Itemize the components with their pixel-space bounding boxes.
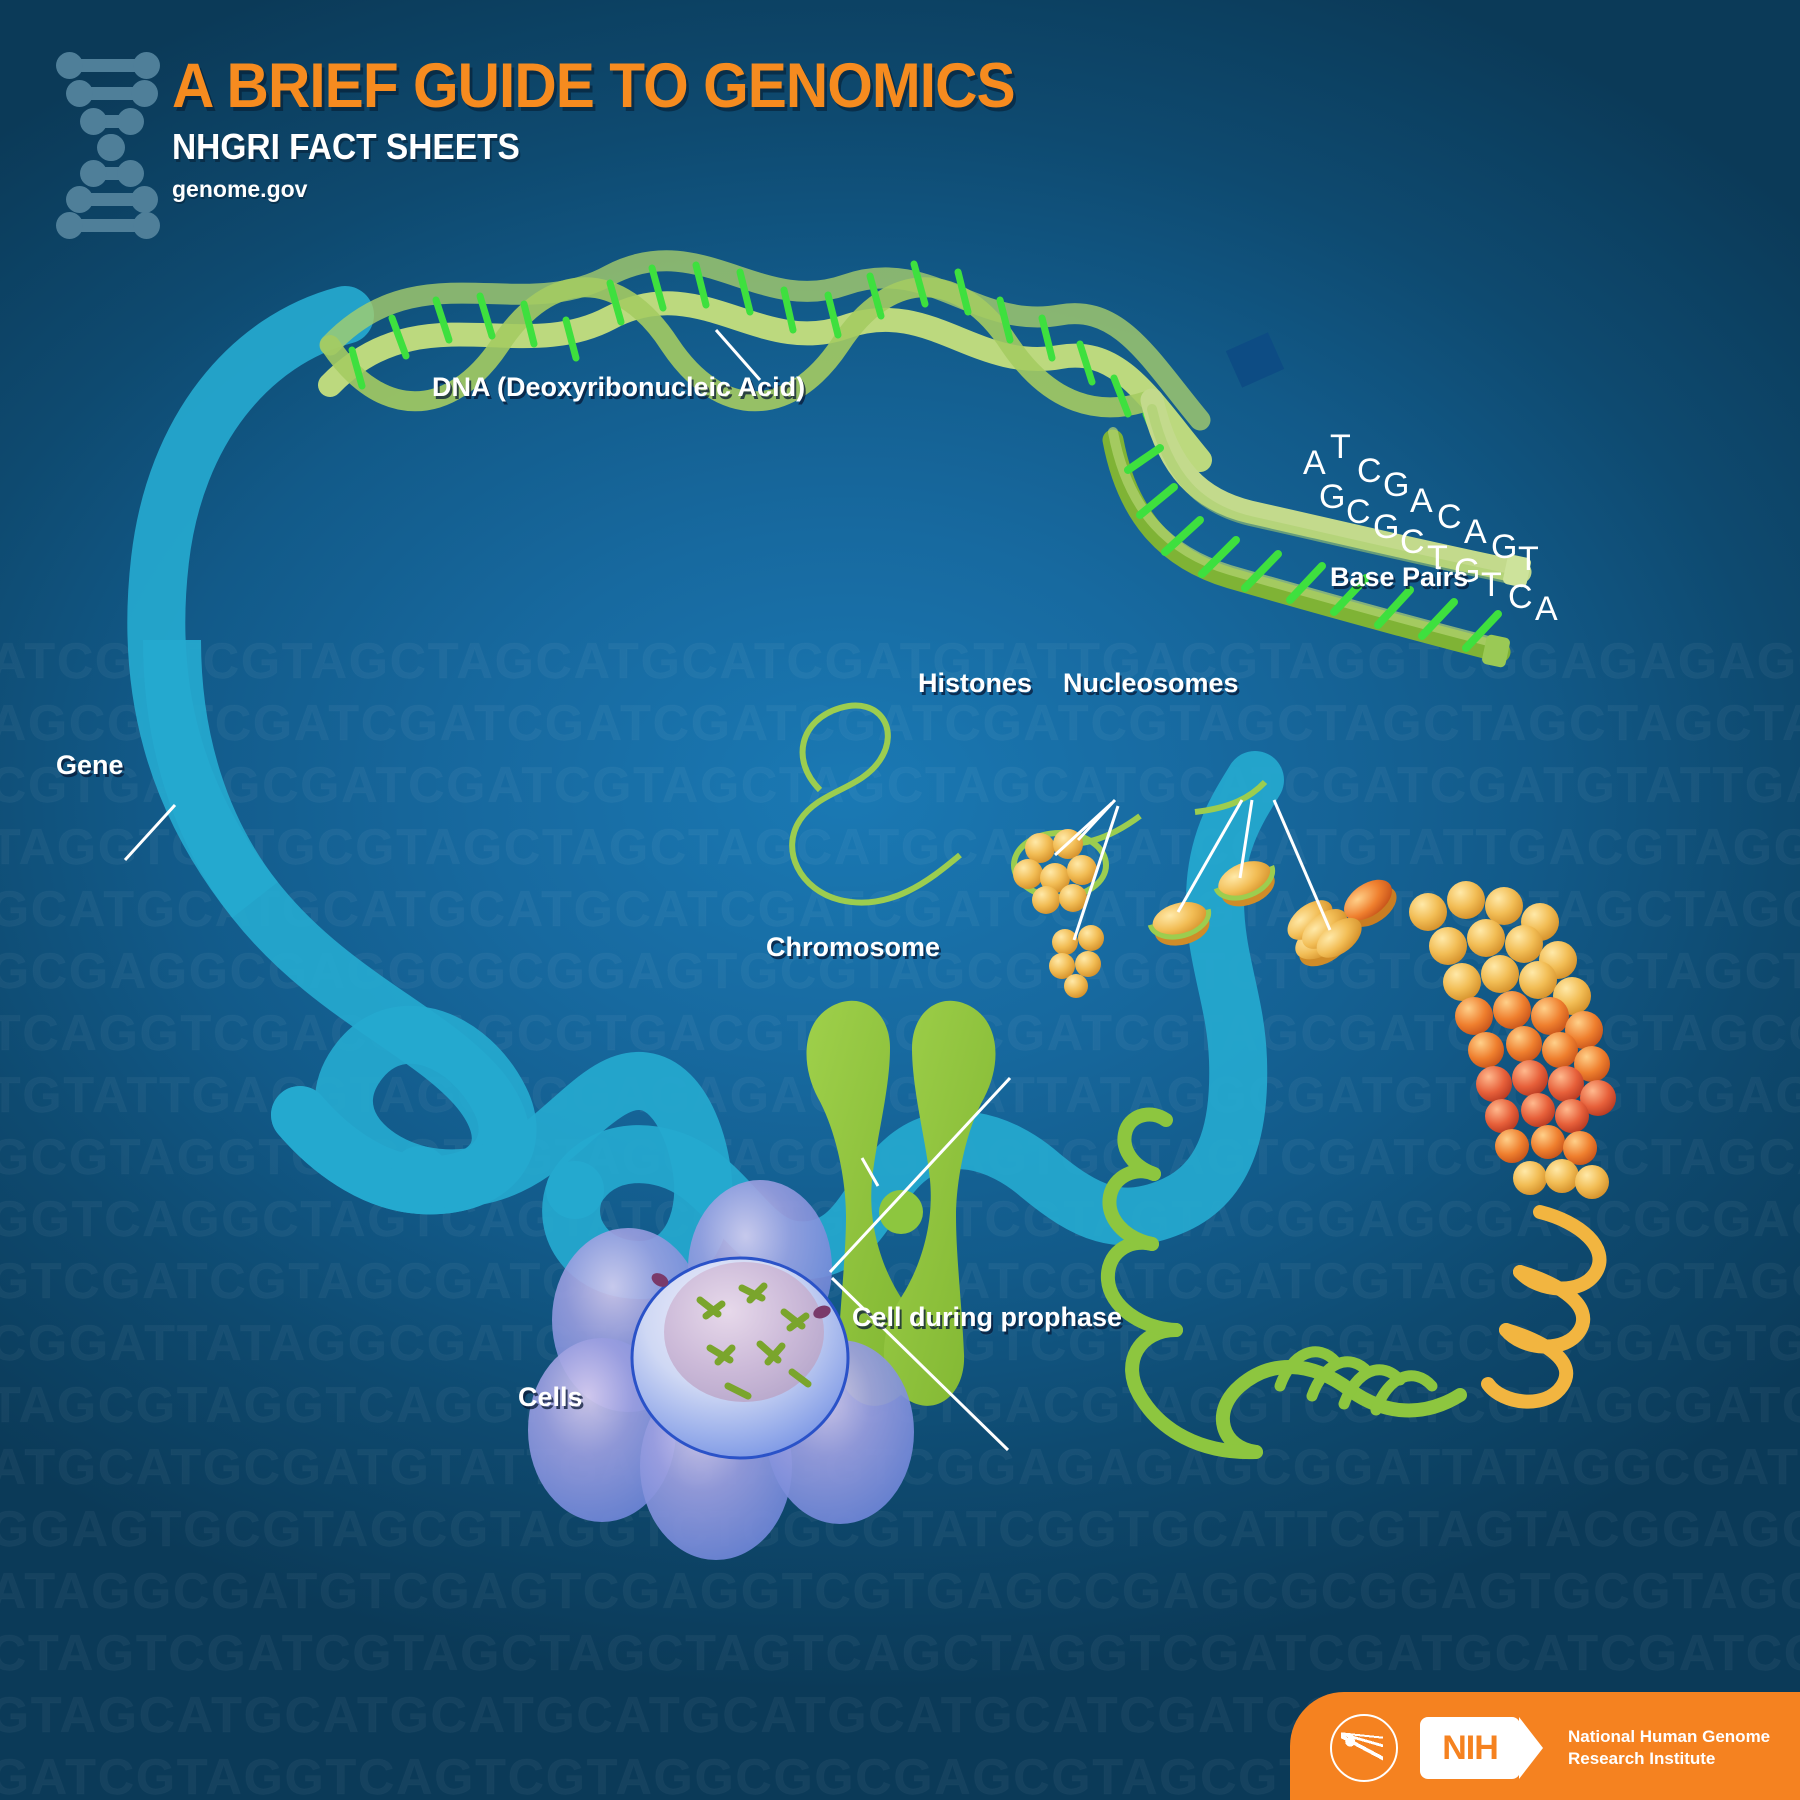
label-histones: Histones — [918, 668, 1032, 699]
org-line-1: National Human Genome — [1568, 1726, 1770, 1748]
base-pair-ladder — [1113, 400, 1532, 668]
condensed-chromatin-fiber — [1409, 881, 1616, 1402]
dna-double-helix — [330, 261, 1200, 460]
infographic-canvas: ATCGATCGTAGCTAGCATGCATCGATGTATTGACGTAGGT… — [0, 0, 1800, 1800]
label-dna: DNA (Deoxyribonucleic Acid) — [432, 372, 805, 403]
footer-bar: NIH National Human Genome Research Insti… — [1290, 1692, 1800, 1800]
cell-during-prophase — [632, 1258, 848, 1458]
label-nucleosomes: Nucleosomes — [1063, 668, 1239, 699]
label-cell-during-prophase: Cell during prophase — [852, 1302, 1122, 1333]
label-gene: Gene — [56, 750, 124, 781]
label-cells: Cells — [518, 1382, 583, 1413]
chromatin-coil-strand — [1108, 1115, 1460, 1453]
gene-highlight-band — [156, 315, 1255, 1270]
org-line-2: Research Institute — [1568, 1748, 1770, 1770]
chevron-right-icon — [1519, 1717, 1543, 1779]
nih-badge: NIH — [1420, 1717, 1520, 1779]
org-name: National Human Genome Research Institute — [1568, 1726, 1770, 1770]
hhs-seal-icon — [1330, 1714, 1398, 1782]
label-base-pairs: Base Pairs — [1330, 562, 1468, 593]
genomics-illustration — [0, 0, 1800, 1800]
histone-cluster-upper — [1013, 829, 1106, 914]
nih-badge-label: NIH — [1442, 1729, 1498, 1768]
label-chromosome: Chromosome — [766, 932, 940, 963]
nucleosome-discs — [1147, 853, 1404, 974]
